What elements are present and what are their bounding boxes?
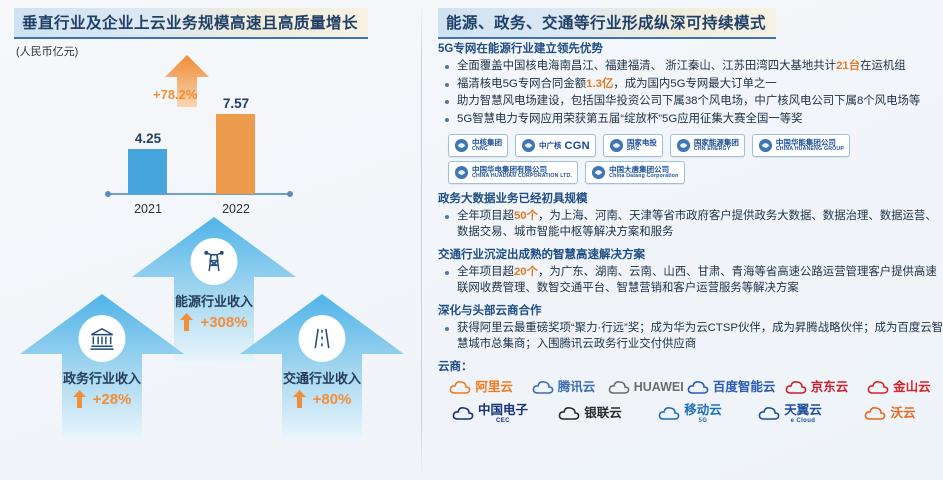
cec-logo-icon-mark: [452, 404, 474, 424]
up-arrow-icon: [293, 390, 306, 408]
cloud-vendors-label: 云商：: [438, 358, 943, 374]
unionpaycloud-logo-icon: 银联云: [540, 404, 640, 424]
logo-text: 阿里云: [475, 381, 513, 395]
cnnc-logo-icon: 中核集团CNNC: [448, 134, 508, 157]
section-heading: 深化与头部云商合作: [438, 302, 943, 318]
highlight-value: 50个: [514, 210, 538, 222]
logo-cn-text: 中广核: [539, 140, 562, 151]
huadian-logo-icon-mark: [454, 165, 469, 180]
slide-root: 垂直行业及企业上云业务规模高速且高质量增长 (人民币亿元) 4.25 7.57 …: [0, 0, 943, 480]
chart-unit-label: (人民币亿元): [16, 43, 78, 59]
logo-text: 腾讯云: [558, 381, 596, 395]
cgn-logo-icon-mark: [521, 138, 536, 153]
logo-name-text: HUAWEI: [634, 381, 684, 395]
energy-logo-row: 中国华电集团有限公司CHINA HUADIAN CORPORATION LTD.…: [448, 161, 918, 184]
arrow-label-government: 政务行业收入: [18, 368, 186, 387]
logo-name-text: 百度智能云: [713, 381, 776, 395]
aliyun-logo-icon-mark: [449, 378, 471, 398]
datang-logo-icon-mark: [591, 165, 606, 180]
logo-text: 沃云: [890, 407, 915, 421]
arrow-card-government: 政务行业收入 +28%: [18, 292, 186, 442]
bullet-list: 获得阿里云最重磅奖项“聚力·行远”奖；成为华为云CTSP伙伴，成为昇腾战略伙伴；…: [444, 321, 943, 352]
logo-text: 天翼云e Cloud: [784, 404, 822, 424]
logo-en-text: SPIC: [627, 147, 657, 152]
up-arrow-icon: [73, 390, 86, 408]
bullet-text: 5G智慧电力专网应用荣获第五届“绽放杯”5G应用征集大赛全国一等奖: [457, 113, 803, 125]
logo-en-text: CHINA HUANENG GROUP: [776, 147, 844, 152]
huawei-logo-icon: HUAWEI: [605, 378, 687, 398]
logo-text: 移动云5G: [684, 404, 722, 424]
bar-2022: [216, 114, 255, 194]
logo-text: 中国电子CEC: [478, 404, 528, 424]
section-heading: 5G专网在能源行业建立领先优势: [438, 40, 943, 56]
aliyun-logo-icon: 阿里云: [440, 378, 522, 398]
jdcloud-logo-icon-mark: [785, 378, 807, 398]
logo-sub-text: e Cloud: [791, 418, 816, 425]
wocloud-logo-icon-mark: [864, 404, 886, 424]
highway-road-icon: [300, 316, 345, 361]
logo-name-text: 腾讯云: [558, 381, 596, 395]
huaneng-logo-icon: 中国华能集团公司CHINA HUANENG GROUP: [752, 134, 850, 157]
bar-value-2022: 7.57: [206, 96, 266, 111]
logo-text: 金山云: [893, 381, 931, 395]
bullet-item: 全年项目超50个，为上海、河南、天津等省市政府客户提供政务大数据、数据治理、数据…: [444, 209, 943, 240]
logo-text: 中国华电集团有限公司CHINA HUADIAN CORPORATION LTD.: [472, 166, 572, 179]
bullet-item: 获得阿里云最重磅奖项“聚力·行远”奖；成为华为云CTSP伙伴，成为昇腾战略伙伴；…: [444, 321, 943, 352]
bullet-text: 全年项目超: [457, 210, 514, 222]
wocloud-logo-icon: 沃云: [840, 404, 940, 424]
chnenergy-logo-icon: 国家能源集团CHN ENERGY: [670, 134, 745, 157]
logo-text: HUAWEI: [634, 381, 684, 395]
sections-container: 5G专网在能源行业建立领先优势全面覆盖中国核电海南昌江、福建福清、 浙江秦山、江…: [430, 40, 943, 424]
logo-name-text: 阿里云: [475, 381, 513, 395]
unionpaycloud-logo-icon-mark: [558, 404, 580, 424]
bar-2021: [128, 149, 167, 194]
tencentcloud-logo-icon: 腾讯云: [522, 378, 604, 398]
arrow-label-traffic: 交通行业收入: [238, 368, 406, 387]
arrow-card-traffic: 交通行业收入 +80%: [238, 292, 406, 442]
bullet-text: 在运机组: [860, 60, 906, 72]
highlight-value: 1.3亿: [586, 78, 613, 90]
cgn-logo-icon: 中广核CGN: [515, 134, 596, 157]
logo-text: 中国大唐集团公司China Datang Corporation: [609, 166, 678, 179]
baiducloud-logo-icon: 百度智能云: [687, 378, 776, 398]
logo-en-text: CHINA HUADIAN CORPORATION LTD.: [472, 174, 572, 179]
logo-text: 百度智能云: [713, 381, 776, 395]
arrow-shape-government: [18, 292, 186, 442]
logo-sub-text: CEC: [496, 418, 510, 425]
bullet-text: 福清核电5G专网合同金额: [457, 78, 586, 90]
logo-text: 京东云: [811, 381, 849, 395]
bar-category-2021: 2021: [118, 202, 178, 216]
arrow-growth-government: +28%: [18, 390, 186, 408]
logo-en-text: CNNC: [472, 147, 502, 152]
logo-name-text: 京东云: [811, 381, 849, 395]
tencentcloud-logo-icon-mark: [532, 378, 554, 398]
arrow-growth-value-government: +28%: [93, 391, 132, 408]
arrow-growth-traffic: +80%: [238, 390, 406, 408]
spic-logo-icon-mark: [609, 138, 624, 153]
huawei-logo-icon-mark: [608, 378, 630, 398]
logo-text: 中核集团CNNC: [472, 139, 502, 152]
logo-text: 银联云: [584, 407, 622, 421]
bullet-text: 全面覆盖中国核电海南昌江、福建福清、 浙江秦山、江苏田湾四大基地共计: [457, 60, 836, 72]
bullet-list: 全年项目超20个，为广东、湖南、云南、山西、甘肃、青海等省高速公路运营管理客户提…: [444, 265, 943, 296]
bullet-item: 福清核电5G专网合同金额1.3亿，成为国内5G专网最大订单之一: [444, 77, 943, 93]
baiducloud-logo-icon-mark: [687, 378, 709, 398]
logo-en-text: China Datang Corporation: [609, 174, 678, 179]
bullet-text: 获得阿里云最重磅奖项“聚力·行远”奖；成为华为云CTSP伙伴，成为昇腾战略伙伴；…: [457, 322, 943, 350]
energy-logo-row: 中核集团CNNC中广核CGN国家电投SPIC国家能源集团CHN ENERGY中国…: [448, 134, 918, 157]
spic-logo-icon: 国家电投SPIC: [603, 134, 663, 157]
cnnc-logo-icon-mark: [454, 138, 469, 153]
left-panel: 垂直行业及企业上云业务规模高速且高质量增长 (人民币亿元) 4.25 7.57 …: [0, 0, 420, 480]
bullet-item: 全面覆盖中国核电海南昌江、福建福清、 浙江秦山、江苏田湾四大基地共计21台在运机…: [444, 59, 943, 75]
logo-text: 国家能源集团CHN ENERGY: [694, 139, 739, 152]
bar-value-2021: 4.25: [118, 131, 178, 146]
logo-name-text: 移动云: [684, 404, 722, 418]
government-building-icon: [80, 316, 125, 361]
arrow-shape-traffic: [238, 292, 406, 442]
cloud-logos-container: 阿里云腾讯云HUAWEI百度智能云京东云金山云中国电子CEC银联云移动云5G天翼…: [440, 378, 940, 424]
panel-divider: [421, 0, 422, 480]
highlight-value: 20个: [514, 266, 538, 278]
chnenergy-logo-icon-mark: [676, 138, 691, 153]
bullet-list: 全年项目超50个，为上海、河南、天津等省市政府客户提供政务大数据、数据治理、数据…: [444, 209, 943, 240]
arrow-growth-value-traffic: +80%: [313, 391, 352, 408]
ctyuncloud-logo-icon-mark: [758, 404, 780, 424]
bullet-item: 助力智慧风电场建设，包括国华投资公司下属38个风电场，中广核风电公司下属8个风电…: [444, 94, 943, 110]
highlight-value: 21台: [836, 60, 860, 72]
chinamobilecloud-logo-icon: 移动云5G: [640, 404, 740, 424]
bullet-text: 全年项目超: [457, 266, 514, 278]
bullet-list: 全面覆盖中国核电海南昌江、福建福清、 浙江秦山、江苏田湾四大基地共计21台在运机…: [444, 59, 943, 127]
cloud-logo-row: 中国电子CEC银联云移动云5G天翼云e Cloud沃云: [440, 404, 940, 424]
cec-logo-icon: 中国电子CEC: [440, 404, 540, 424]
logo-name-text: 金山云: [893, 381, 931, 395]
datang-logo-icon: 中国大唐集团公司China Datang Corporation: [585, 161, 684, 184]
bullet-item: 全年项目超20个，为广东、湖南、云南、山西、甘肃、青海等省高速公路运营管理客户提…: [444, 265, 943, 296]
left-panel-title: 垂直行业及企业上云业务规模高速且高质量增长: [14, 8, 368, 39]
bar-category-2022: 2022: [206, 202, 266, 216]
logo-text: 国家电投SPIC: [627, 139, 657, 152]
huaneng-logo-icon-mark: [758, 138, 773, 153]
logo-name-text: 天翼云: [784, 404, 822, 418]
energy-logos-container: 中核集团CNNC中广核CGN国家电投SPIC国家能源集团CHN ENERGY中国…: [448, 134, 918, 184]
logo-sub-text: 5G: [699, 418, 708, 425]
jdcloud-logo-icon: 京东云: [775, 378, 857, 398]
right-panel: 5G专网在能源行业建立领先优势全面覆盖中国核电海南昌江、福建福清、 浙江秦山、江…: [430, 34, 943, 480]
kingsoftcloud-logo-icon-mark: [867, 378, 889, 398]
logo-name-text: 沃云: [890, 407, 915, 421]
growth-percentage-label: +78.2%: [153, 87, 197, 102]
chinamobilecloud-logo-icon-mark: [658, 404, 680, 424]
kingsoftcloud-logo-icon: 金山云: [858, 378, 940, 398]
ctyuncloud-logo-icon: 天翼云e Cloud: [740, 404, 840, 424]
bullet-text: 助力智慧风电场建设，包括国华投资公司下属38个风电场，中广核风电公司下属8个风电…: [457, 95, 920, 107]
logo-name-text: 银联云: [584, 407, 622, 421]
huadian-logo-icon: 中国华电集团有限公司CHINA HUADIAN CORPORATION LTD.: [448, 161, 578, 184]
section-heading: 政务大数据业务已经初具规模: [438, 190, 943, 206]
cloud-logo-row: 阿里云腾讯云HUAWEI百度智能云京东云金山云: [440, 378, 940, 398]
logo-text: 中国华能集团公司CHINA HUANENG GROUP: [776, 139, 844, 152]
bullet-item: 5G智慧电力专网应用荣获第五届“绽放杯”5G应用征集大赛全国一等奖: [444, 112, 943, 128]
section-heading: 交通行业沉淀出成熟的智慧高速解决方案: [438, 246, 943, 262]
logo-en-text: CHN ENERGY: [694, 147, 739, 152]
logo-en-text: CGN: [565, 140, 590, 152]
bullet-text: ，成为国内5G专网最大订单之一: [613, 78, 776, 90]
logo-name-text: 中国电子: [478, 404, 528, 418]
power-tower-icon: [192, 239, 237, 284]
